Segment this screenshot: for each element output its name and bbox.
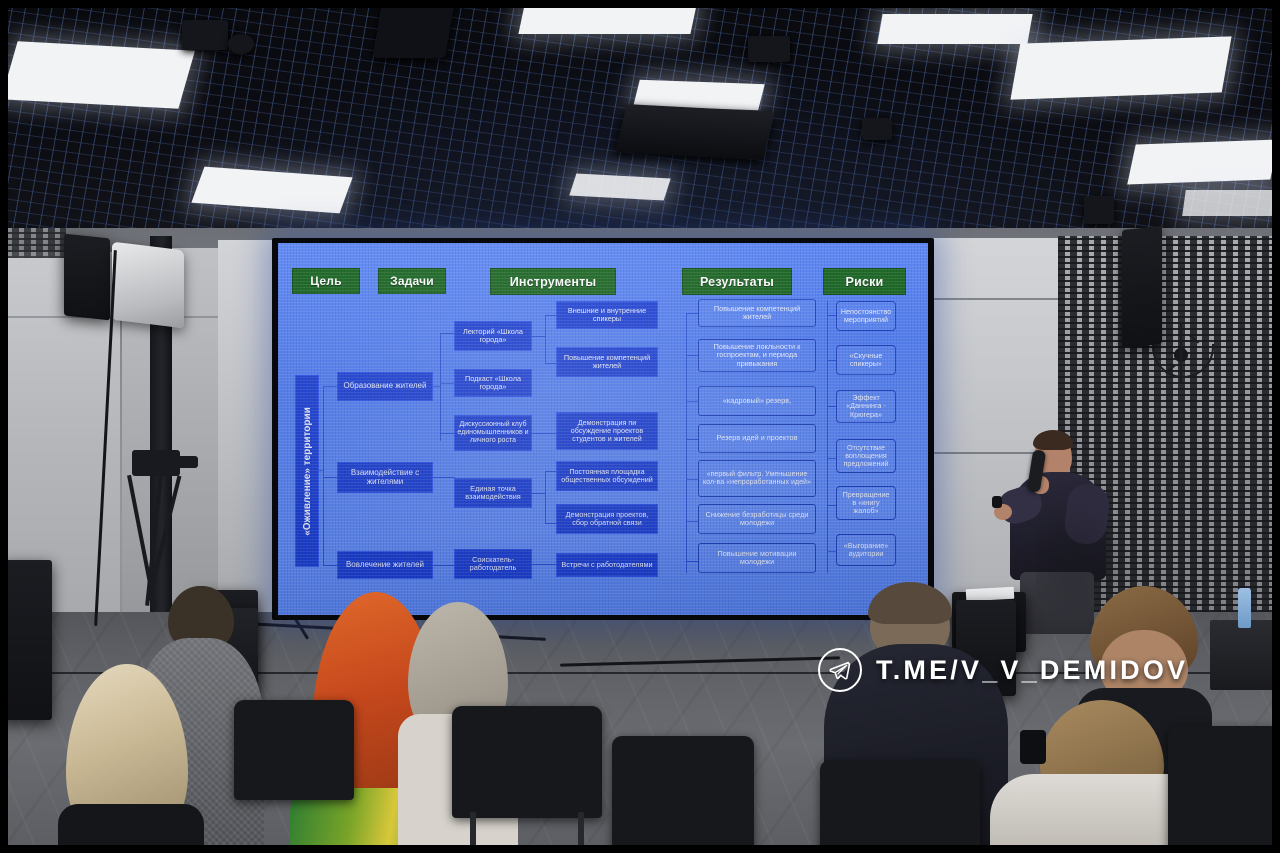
connector-vline (686, 313, 688, 573)
slide-vertical-title: «Оживление» территории (295, 375, 319, 567)
connector-hline (827, 458, 836, 460)
ceiling-speaker (748, 36, 790, 62)
slide-tool-outer-box: Повышение компетенций жителей (556, 347, 658, 377)
chair (612, 736, 754, 853)
connector-hline (532, 336, 546, 338)
ceiling-light-panel (1127, 140, 1279, 185)
connector-hline (686, 439, 698, 441)
connector-hline (827, 551, 836, 553)
slide-tool-inner-box: Единая точка взаимодействия (454, 478, 532, 508)
ceiling-spotlight (1084, 196, 1114, 224)
telegram-icon (818, 648, 862, 692)
connector-hline (827, 315, 836, 317)
acoustic-wall-left-upper (0, 228, 66, 258)
chair (234, 700, 354, 800)
connector-hline (686, 401, 698, 403)
handheld-device (1020, 730, 1046, 764)
chair-leg (470, 812, 476, 852)
connector-hline (323, 477, 337, 479)
chair (820, 760, 980, 853)
slide-tool-outer-box: Встречи с работодателями (556, 553, 658, 577)
connector-hline (545, 471, 556, 473)
slide-tool-inner-box: Дискуссионный клуб единомышленников и ли… (454, 415, 532, 451)
connector-hline (545, 363, 556, 365)
presenter-hair (1033, 430, 1073, 450)
slide-tool-inner-box: Соискатель-работодатель (454, 549, 532, 579)
connector-hline (323, 386, 337, 388)
slide-risk-box: Превращение в «книгу жалоб» (836, 486, 896, 520)
slide-risk-box: Отсутствие воплощения предложений (836, 439, 896, 473)
connector-vline (827, 301, 829, 573)
connector-hline (440, 333, 454, 335)
slide-result-box: Резерв идей и проектов (698, 424, 816, 453)
ceiling-spotlight (862, 118, 892, 140)
rolling-table (1210, 620, 1280, 690)
watermark-text: T.ME/V_V_DEMIDOV (876, 655, 1188, 686)
connector-vline (323, 386, 325, 566)
slide-header-results: Результаты (682, 268, 792, 295)
wall-speaker-right-top (1122, 226, 1162, 348)
audience-torso (58, 804, 204, 853)
connector-hline (686, 521, 698, 523)
connector-hline (686, 561, 698, 563)
connector-hline (545, 523, 556, 525)
camera-lens (176, 456, 198, 468)
ceiling-projector-mount (373, 0, 455, 58)
slide-tool-outer-box: Демонстрация проектов, сбор обратной свя… (556, 504, 658, 534)
slide-header-goal: Цель (292, 268, 360, 294)
connector-hline (686, 479, 698, 481)
slide-tool-outer-box: Внешние и внутренние спикеры (556, 301, 658, 329)
connector-hline (323, 565, 337, 567)
connector-hline (545, 315, 556, 317)
slide-task-box: Взаимодействие с жителями (337, 462, 433, 493)
ceiling-light-panel (1, 41, 195, 108)
slide-result-box: Повышение мотивации молодежи (698, 543, 816, 573)
watermark: T.ME/V_V_DEMIDOV (818, 648, 1188, 692)
connector-hline (827, 360, 836, 362)
slide-tool-inner-box: Подкаст «Школа города» (454, 369, 532, 397)
chair (1168, 726, 1280, 853)
audience-member (58, 664, 204, 853)
water-bottle (1238, 588, 1251, 628)
slide-result-box: «первый фильтр. Уменьшение кол-ва «непро… (698, 460, 816, 497)
connector-hline (532, 433, 556, 435)
wall-speaker-black (64, 234, 110, 321)
slide-risk-box: Непостоянство мероприятий (836, 301, 896, 331)
connector-hline (532, 493, 546, 495)
slide-risk-box: Эффект «Даннинга - Крюгера» (836, 390, 896, 423)
connector-hline (827, 505, 836, 507)
slide-header-tools: Инструменты (490, 268, 616, 295)
slide-tool-inner-box: Лекторий «Школа города» (454, 321, 532, 351)
ceiling-light-panel (1182, 190, 1280, 216)
slide-result-box: Повышение компетенций жителей (698, 299, 816, 327)
slide-task-box: Вовлечение жителей (337, 551, 433, 579)
slide-risk-box: «Скучные спикеры» (836, 345, 896, 375)
connector-hline (440, 383, 454, 385)
connector-vline (545, 315, 547, 363)
led-screen[interactable]: Цель Задачи Инструменты Результаты Риски… (278, 243, 928, 615)
ceiling-spotlight (228, 34, 254, 54)
connector-hline (433, 477, 454, 479)
chair-leg (578, 812, 584, 852)
connector-vline (545, 471, 547, 523)
ceiling-spotlight (182, 20, 228, 50)
connector-hline (317, 470, 324, 472)
connector-hline (433, 386, 441, 388)
photograph-canvas: Цель Задачи Инструменты Результаты Риски… (0, 0, 1280, 853)
slide-risk-box: «Выгорание» аудитории (836, 534, 896, 566)
connector-hline (827, 406, 836, 408)
ceiling-light-panel (877, 14, 1032, 44)
presenter-clicker (992, 496, 1002, 508)
vertical-title-text: «Оживление» территории (302, 407, 313, 536)
slide-result-box: Снижение безработицы среди молодежи (698, 504, 816, 534)
connector-hline (440, 433, 454, 435)
connector-hline (532, 564, 556, 566)
slide-tool-outer-box: Постоянная площадка общественных обсужде… (556, 461, 658, 491)
slide-header-tasks: Задачи (378, 268, 446, 294)
conference-hall-room: Цель Задачи Инструменты Результаты Риски… (0, 0, 1280, 853)
connector-hline (686, 313, 698, 315)
ceiling-hvac-vent (615, 104, 775, 160)
ceiling-light-panel (518, 0, 697, 34)
connector-hline (686, 355, 698, 357)
ceiling-light-panel (1010, 36, 1231, 99)
connector-hline (433, 565, 454, 567)
chair (452, 706, 602, 818)
slide-result-box: Повышение локльности к госпроектам, и пе… (698, 339, 816, 372)
wall-seam (932, 298, 1060, 300)
audience-hair-short (868, 582, 952, 624)
slide-tool-outer-box: Демонстрация пи обсуждение проектов студ… (556, 412, 658, 450)
slide-task-box: Образование жителей (337, 372, 433, 401)
stage-monitor (0, 560, 52, 720)
camera-body (132, 450, 180, 476)
slide-header-risks: Риски (823, 268, 906, 295)
wall-speaker-white (112, 242, 184, 329)
slide-result-box: «кадровый» резерв, (698, 386, 816, 416)
wall-panel-between-screen (218, 240, 278, 616)
